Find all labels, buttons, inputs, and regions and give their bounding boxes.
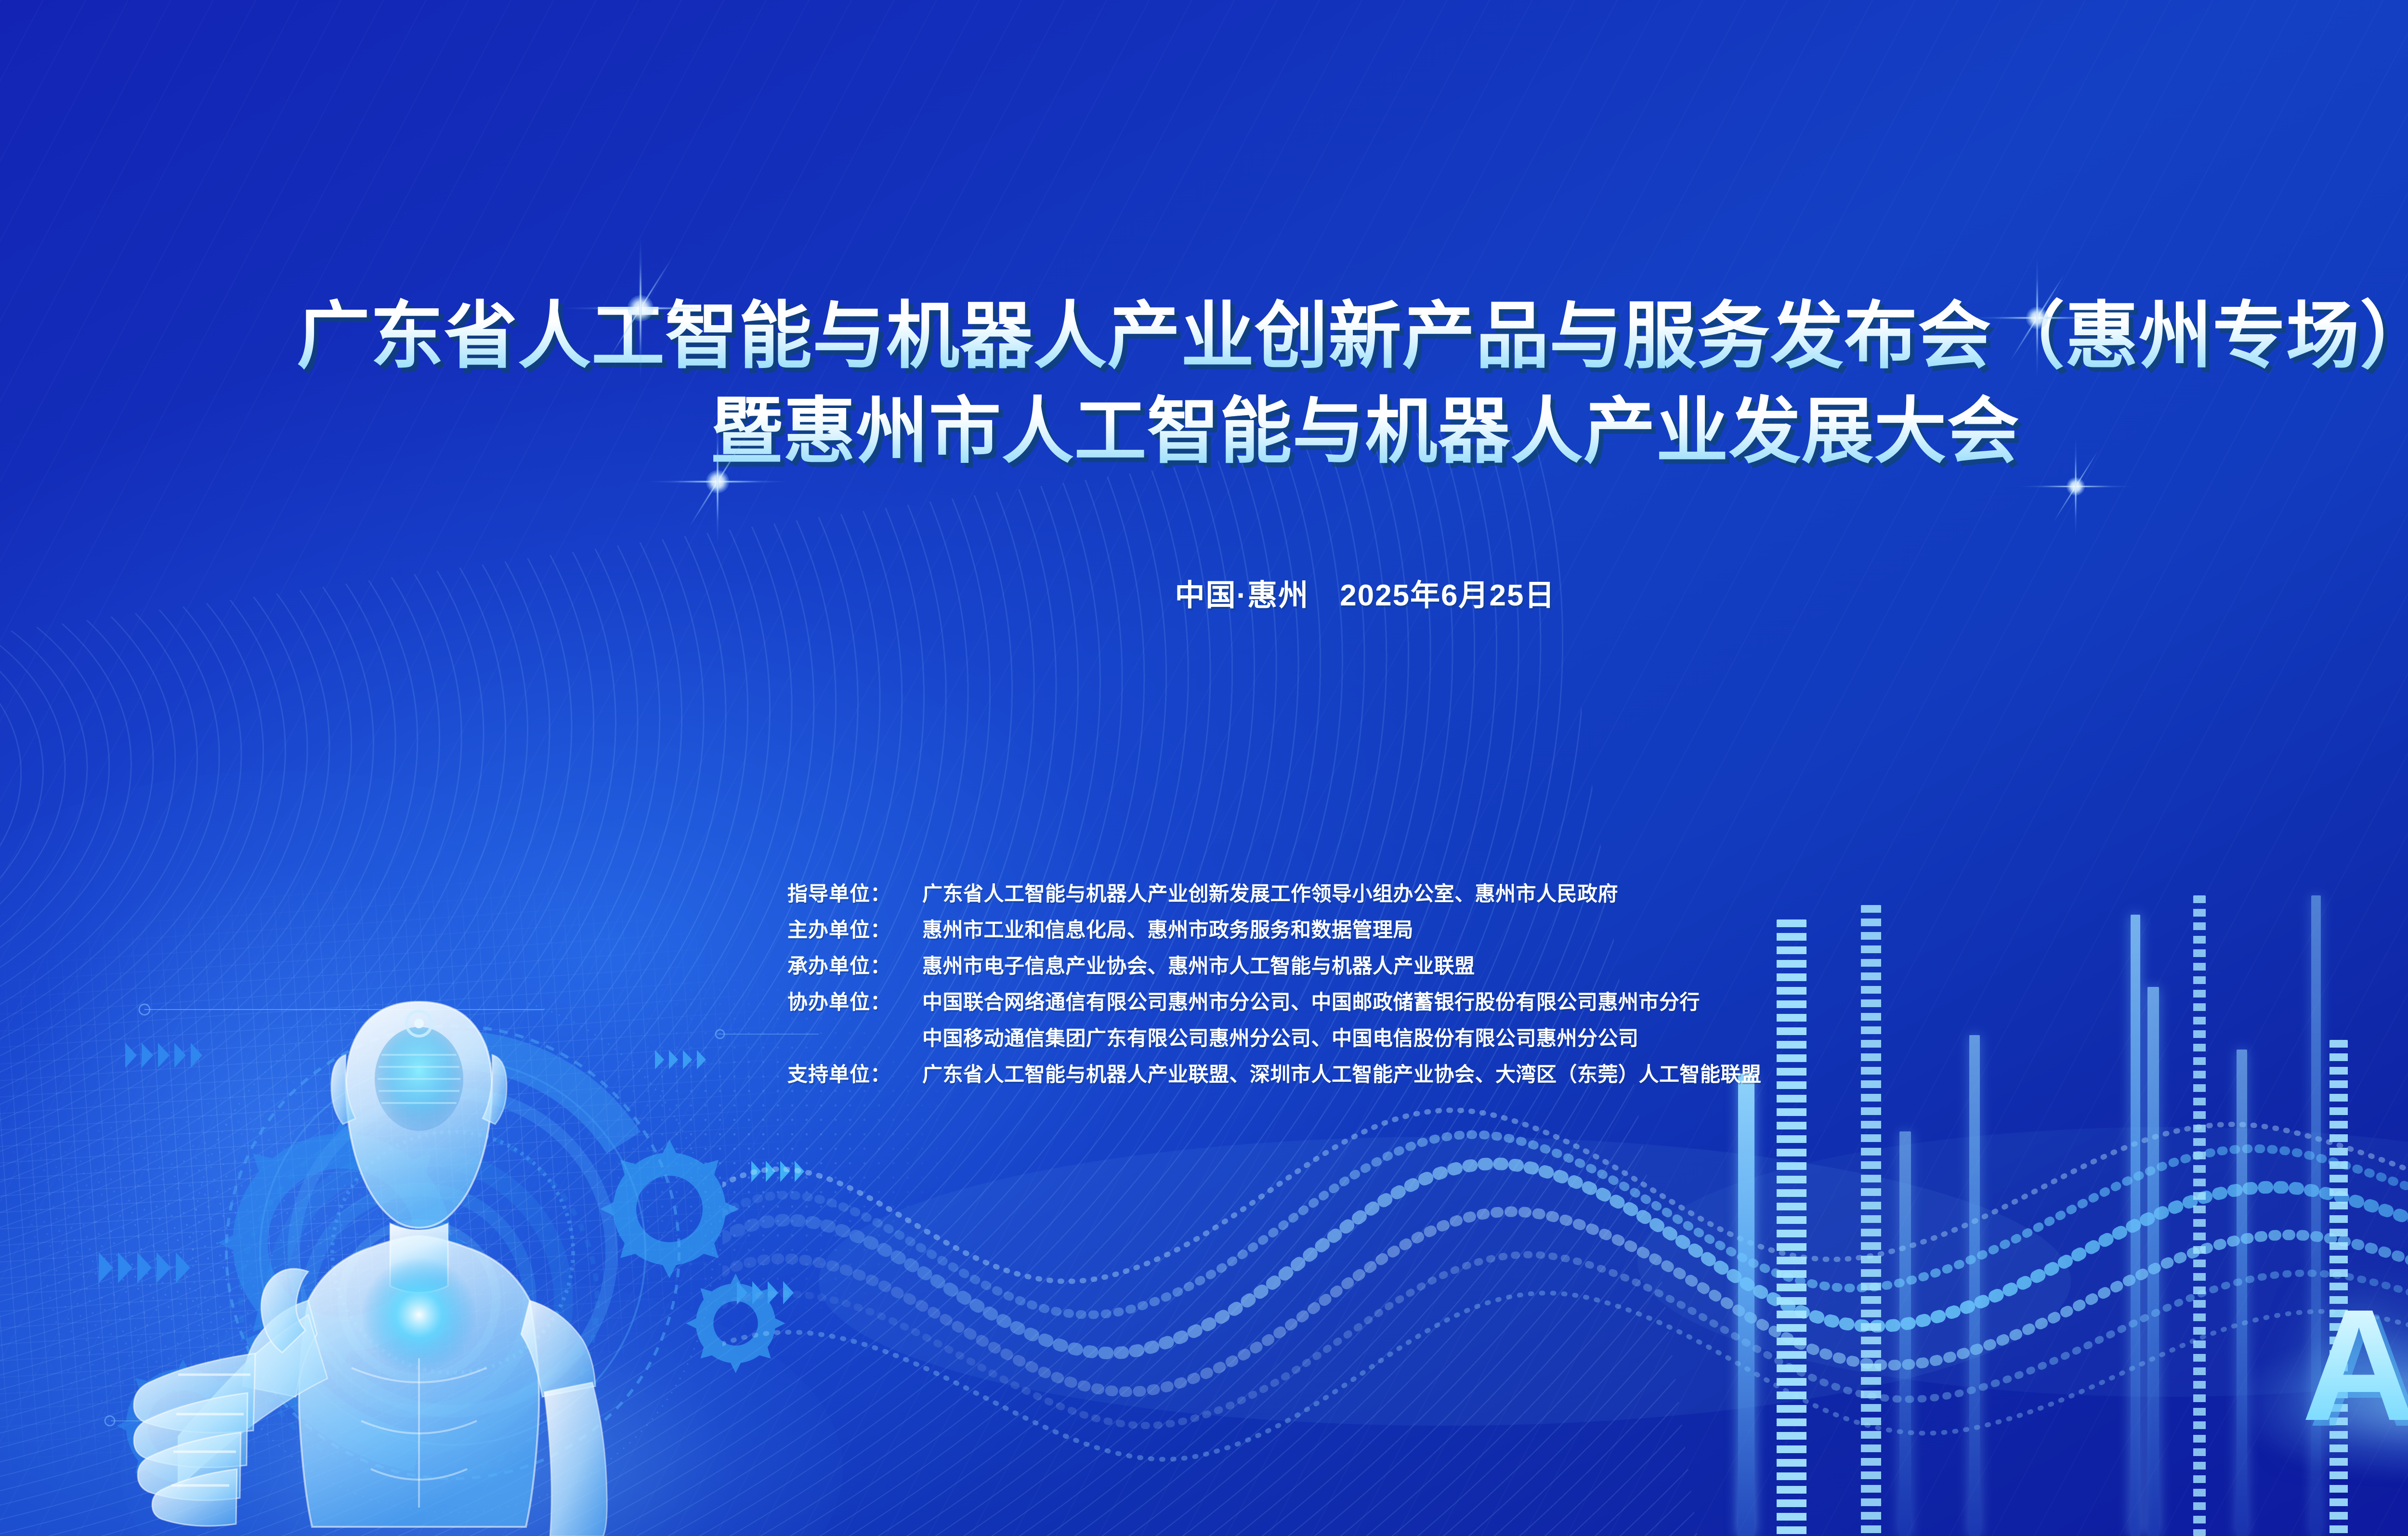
equalizer-bar [2131,915,2140,1536]
title-line-1: 广东省人工智能与机器人产业创新产品与服务发布会（惠州专场） [0,289,2408,384]
equalizer-bar [1969,1035,1980,1536]
equalizer-bar-dashed [1777,919,1806,1536]
poster-canvas: AI 广东省人工智能与机器人产业创新产品与服务发布会（惠州专场） 暨惠州市人工智… [0,0,2408,1536]
equalizer-bar [2311,895,2321,1536]
organizer-value: 惠州市工业和信息化局、惠州市政务服务和数据管理局 [922,914,1413,943]
organizer-value: 广东省人工智能与机器人产业联盟、深圳市人工智能产业协会、大湾区（东莞）人工智能联… [922,1058,1762,1088]
title-line-2: 暨惠州市人工智能与机器人产业发展大会 [0,384,2408,478]
organizer-label: 承办单位： [787,950,922,979]
organizer-row-continuation: 协办单位： 中国移动通信集团广东有限公司惠州分公司、中国电信股份有限公司惠州分公… [787,1022,1762,1051]
organizer-row: 协办单位： 中国联合网络通信有限公司惠州市分公司、中国邮政储蓄银行股份有限公司惠… [787,986,1762,1015]
organizer-row: 支持单位： 广东省人工智能与机器人产业联盟、深圳市人工智能产业协会、大湾区（东莞… [787,1058,1762,1088]
equalizer-bar [2237,1050,2247,1536]
organizer-row: 指导单位： 广东省人工智能与机器人产业创新发展工作领导小组办公室、惠州市人民政府 [787,878,1762,907]
equalizer-bar [1738,1074,1754,1536]
organizer-value: 广东省人工智能与机器人产业创新发展工作领导小组办公室、惠州市人民政府 [922,878,1618,907]
equalizer-bar-dashed [2329,1040,2348,1536]
equalizer-bar [2147,987,2159,1536]
poster-title: 广东省人工智能与机器人产业创新产品与服务发布会（惠州专场） 暨惠州市人工智能与机… [0,289,2408,478]
organizer-list: 指导单位： 广东省人工智能与机器人产业创新发展工作领导小组办公室、惠州市人民政府… [787,878,1762,1088]
equalizer-bar [1899,1131,1911,1536]
organizer-value: 中国移动通信集团广东有限公司惠州分公司、中国电信股份有限公司惠州分公司 [922,1022,1639,1051]
organizer-row: 主办单位： 惠州市工业和信息化局、惠州市政务服务和数据管理局 [787,914,1762,943]
ai-glow [2239,1334,2408,1478]
event-date-location: 中国·惠州 2025年6月25日 [0,571,2408,614]
ai-wordmark: AI [2302,1286,2408,1444]
organizer-label: 支持单位： [787,1058,922,1088]
organizer-label: 协办单位： [787,986,922,1015]
organizer-value: 惠州市电子信息产业协会、惠州市人工智能与机器人产业联盟 [922,950,1475,979]
vertical-bar-equalizer: AI [1719,891,2408,1536]
organizer-label: 主办单位： [787,914,922,943]
equalizer-bar-dashed [1861,905,1881,1536]
organizer-row: 承办单位： 惠州市电子信息产业协会、惠州市人工智能与机器人产业联盟 [787,950,1762,979]
equalizer-bar-dashed [2193,895,2206,1536]
organizer-value: 中国联合网络通信有限公司惠州市分公司、中国邮政储蓄银行股份有限公司惠州市分行 [922,986,1700,1015]
organizer-label: 指导单位： [787,878,922,907]
